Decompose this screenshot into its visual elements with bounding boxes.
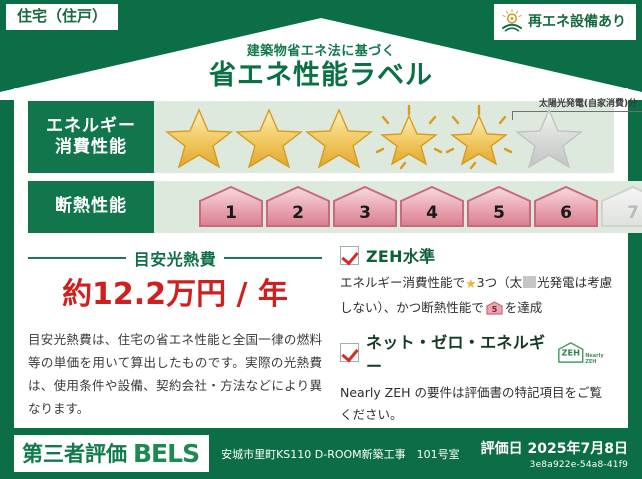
star-filled-solar (374, 104, 444, 170)
rule-left (28, 257, 126, 259)
zeh-house-logo-icon: ZEH Nearly ZEH (557, 340, 614, 365)
utility-cost-note: 目安光熱費は、住宅の省エネ性能と全国一律の燃料等の単価を用いて算出したものです。… (28, 328, 322, 421)
energy-performance-label: エネルギー 消費性能 (28, 101, 154, 173)
insulation-level-filled: 5 (466, 185, 532, 229)
insulation-level-number: 6 (533, 203, 599, 223)
insulation-level-filled: 1 (198, 185, 264, 229)
zeh-standard-block: ZEH水準 エネルギー消費性能で★3つ（太光発電は考慮しない）、かつ断熱性能で5… (340, 243, 614, 319)
rule-right (224, 257, 322, 259)
net-zero-energy-checkbox[interactable] (340, 343, 359, 362)
insulation-level-scale: 1 2 3 (198, 185, 642, 229)
utility-cost-column: 目安光熱費 約12.2万円 / 年 目安光熱費は、住宅の省エネ性能と全国一律の燃… (28, 243, 328, 425)
label-title-block: 建築物省エネ法に基づく 省エネ性能ラベル (0, 40, 642, 90)
star-filled (304, 104, 374, 170)
bels-jp-text: 第三者評価 (22, 438, 127, 468)
energy-label-line1: エネルギー (46, 116, 136, 137)
title-subtitle: 建築物省エネ法に基づく (0, 40, 642, 59)
details-columns: 目安光熱費 約12.2万円 / 年 目安光熱費は、住宅の省エネ性能と全国一律の燃… (28, 243, 614, 425)
insulation-level-number: 2 (265, 203, 331, 223)
housing-type-label: 住宅（住戸） (17, 7, 107, 25)
net-zero-energy-description: Nearly ZEH の要件は評価書の特記項目をご覧ください。 (340, 382, 614, 426)
renewable-equipment-label: 再エネ設備あり (528, 15, 626, 29)
net-zero-energy-header: ネット・ゼロ・エネルギー ZEH Nearly ZEH (340, 329, 614, 377)
net-zero-energy-title: ネット・ゼロ・エネルギー (366, 329, 546, 377)
energy-label-root: 住宅（住戸） 再エネ設備あり 建築物省エネ法に基づく 省エネ性能ラベル (0, 0, 642, 479)
star-filled-solar (444, 104, 514, 170)
certification-column: ZEH水準 エネルギー消費性能で★3つ（太光発電は考慮しない）、かつ断熱性能で5… (328, 243, 614, 425)
evaluation-date-label: 評価日 (481, 441, 523, 457)
zeh-standard-checkbox[interactable] (340, 246, 359, 265)
redacted-character (523, 276, 536, 288)
evaluation-date-value: 2025年7月8日 (528, 441, 628, 457)
zeh-standard-header: ZEH水準 (340, 243, 614, 267)
bels-logo: 第三者評価 BELS (14, 435, 209, 472)
net-zero-energy-block: ネット・ゼロ・エネルギー ZEH Nearly ZEH Nearly ZEH の… (340, 329, 614, 426)
bels-en-text: BELS (133, 439, 199, 468)
star-filled (234, 104, 304, 170)
energy-performance-row: エネルギー 消費性能 太陽光発電(自家消費)分 (28, 101, 614, 173)
star-filled (164, 104, 234, 170)
utility-cost-heading: 目安光熱費 (28, 246, 322, 270)
insulation-performance-label: 断熱性能 (28, 181, 154, 233)
insulation-level-number: 5 (466, 203, 532, 223)
zeh-desc-part1: エネルギー消費性能で (340, 275, 465, 290)
utility-cost-heading-text: 目安光熱費 (134, 246, 217, 270)
zeh-desc-part4: を達成 (505, 300, 543, 315)
property-address: 安城市里町KS110 D-ROOM新築工事 101号室 (221, 446, 460, 462)
insulation-level-number: 7 (600, 203, 642, 223)
insulation-level-filled: 2 (265, 185, 331, 229)
evaluation-id: 3e8a922e-54a8-41f9 (481, 460, 628, 470)
energy-label-line2: 消費性能 (55, 137, 127, 158)
star-icon: ★ (465, 277, 477, 292)
insulation-level-empty: 7 (600, 185, 642, 229)
zeh-standard-description: エネルギー消費性能で★3つ（太光発電は考慮しない）、かつ断熱性能で5を達成 (340, 272, 614, 319)
svg-text:5: 5 (491, 305, 497, 314)
evaluation-info: 評価日 2025年7月8日 3e8a922e-54a8-41f9 (481, 438, 628, 470)
insulation-level-filled: 4 (399, 185, 465, 229)
evaluation-date: 評価日 2025年7月8日 (481, 438, 628, 458)
renewable-equipment-badge: 再エネ設備あり (494, 4, 636, 40)
housing-type-badge: 住宅（住戸） (6, 4, 118, 30)
insulation-level-number: 1 (198, 203, 264, 223)
zeh-standard-title: ZEH水準 (366, 243, 435, 267)
energy-rating-area: 太陽光発電(自家消費)分 (154, 101, 614, 173)
zeh-logo-subtext: Nearly ZEH (585, 354, 614, 365)
utility-cost-value: 約12.2万円 / 年 (28, 280, 322, 310)
svg-text:ZEH: ZEH (561, 348, 580, 358)
house-level-badge-icon: 5 (486, 300, 503, 314)
star-rating (164, 104, 584, 170)
insulation-level-number: 4 (399, 203, 465, 223)
sun-solar-icon (500, 8, 524, 35)
insulation-level-number: 3 (332, 203, 398, 223)
insulation-performance-row: 断熱性能 (28, 181, 614, 233)
insulation-levels-area: 1 2 3 (154, 181, 642, 233)
star-empty (514, 104, 584, 170)
insulation-level-filled: 6 (533, 185, 599, 229)
zeh-desc-part2: 3つ（太 (477, 275, 522, 290)
insulation-level-filled: 3 (332, 185, 398, 229)
footer-bar: 第三者評価 BELS 安城市里町KS110 D-ROOM新築工事 101号室 評… (0, 428, 642, 479)
insulation-label-text: 断熱性能 (55, 196, 127, 217)
title-main: 省エネ性能ラベル (0, 61, 642, 90)
label-card: エネルギー 消費性能 太陽光発電(自家消費)分 (14, 88, 628, 428)
